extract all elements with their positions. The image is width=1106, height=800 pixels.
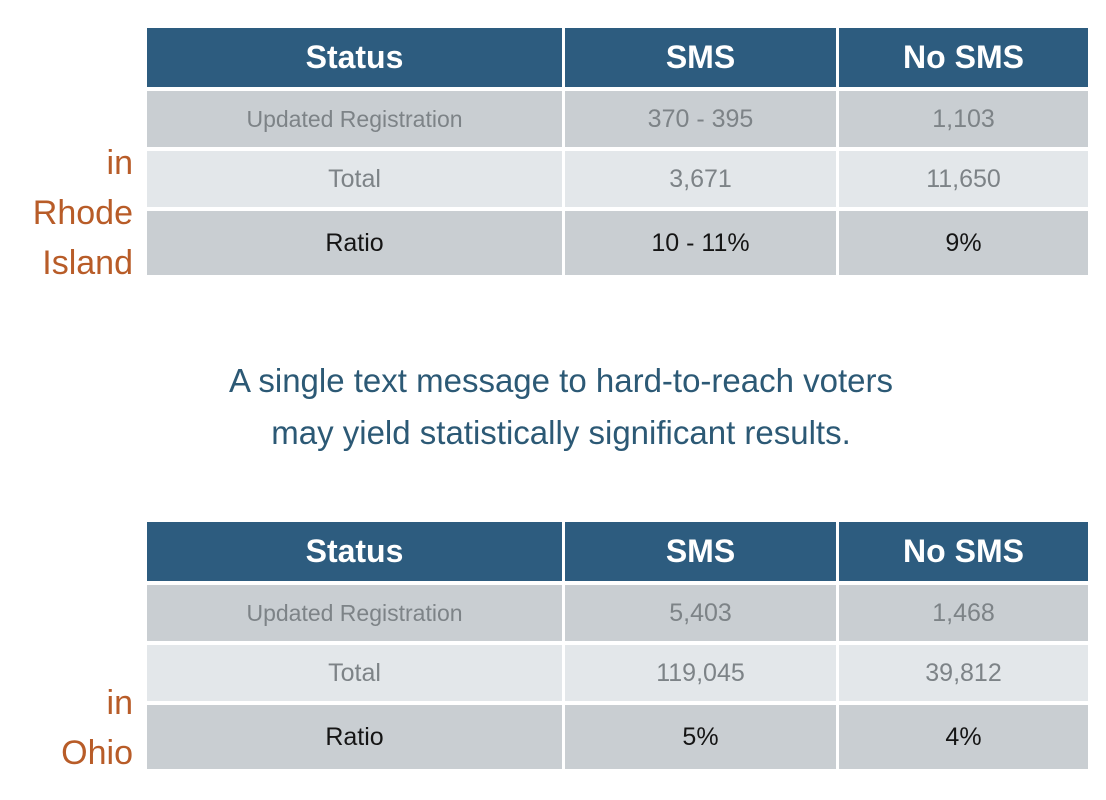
cell-no-sms: 9% bbox=[839, 211, 1088, 275]
cell-sms: 3,671 bbox=[565, 151, 836, 207]
table-body: Updated Registration 370 - 395 1,103 Tot… bbox=[147, 91, 1088, 275]
cell-no-sms: 1,103 bbox=[839, 91, 1088, 147]
header-row: Status SMS No SMS bbox=[147, 522, 1088, 581]
table-body: Updated Registration 5,403 1,468 Total 1… bbox=[147, 585, 1088, 769]
data-table: Status SMS No SMS Updated Registration 5… bbox=[144, 518, 1091, 773]
column-header-sms[interactable]: SMS bbox=[565, 28, 836, 87]
caption-line-1: A single text message to hard-to-reach v… bbox=[16, 355, 1106, 407]
cell-sms: 5% bbox=[565, 705, 836, 769]
cell-status: Total bbox=[147, 151, 562, 207]
table-rhode-island: Status SMS No SMS Updated Registration 3… bbox=[147, 28, 1094, 275]
cell-no-sms: 11,650 bbox=[839, 151, 1088, 207]
table-row: Total 119,045 39,812 bbox=[147, 645, 1088, 701]
data-table: Status SMS No SMS Updated Registration 3… bbox=[144, 24, 1091, 279]
table-header: Status SMS No SMS bbox=[147, 28, 1088, 87]
caption-text: A single text message to hard-to-reach v… bbox=[0, 355, 1106, 459]
cell-sms: 370 - 395 bbox=[565, 91, 836, 147]
table-row: Updated Registration 370 - 395 1,103 bbox=[147, 91, 1088, 147]
side-label-line-1: in bbox=[0, 678, 133, 728]
slide-canvas: in Rhode Island Status SMS No SMS Update… bbox=[0, 0, 1106, 800]
side-label-line-2: Rhode bbox=[0, 188, 133, 238]
header-row: Status SMS No SMS bbox=[147, 28, 1088, 87]
side-label-ohio: in Ohio bbox=[0, 678, 133, 778]
side-label-rhode-island: in Rhode Island bbox=[0, 138, 133, 288]
table-header: Status SMS No SMS bbox=[147, 522, 1088, 581]
cell-status: Updated Registration bbox=[147, 585, 562, 641]
column-header-no-sms[interactable]: No SMS bbox=[839, 522, 1088, 581]
cell-sms: 119,045 bbox=[565, 645, 836, 701]
side-label-line-3: Island bbox=[0, 238, 133, 288]
table-ohio: Status SMS No SMS Updated Registration 5… bbox=[147, 522, 1094, 769]
table-row: Updated Registration 5,403 1,468 bbox=[147, 585, 1088, 641]
cell-no-sms: 4% bbox=[839, 705, 1088, 769]
cell-status: Ratio bbox=[147, 211, 562, 275]
cell-no-sms: 1,468 bbox=[839, 585, 1088, 641]
table-row: Ratio 10 - 11% 9% bbox=[147, 211, 1088, 275]
cell-status: Total bbox=[147, 645, 562, 701]
table-row: Ratio 5% 4% bbox=[147, 705, 1088, 769]
column-header-status[interactable]: Status bbox=[147, 522, 562, 581]
column-header-sms[interactable]: SMS bbox=[565, 522, 836, 581]
side-label-line-2: Ohio bbox=[0, 728, 133, 778]
cell-sms: 5,403 bbox=[565, 585, 836, 641]
cell-sms: 10 - 11% bbox=[565, 211, 836, 275]
caption-line-2: may yield statistically significant resu… bbox=[16, 407, 1106, 459]
column-header-status[interactable]: Status bbox=[147, 28, 562, 87]
column-header-no-sms[interactable]: No SMS bbox=[839, 28, 1088, 87]
cell-no-sms: 39,812 bbox=[839, 645, 1088, 701]
cell-status: Updated Registration bbox=[147, 91, 562, 147]
cell-status: Ratio bbox=[147, 705, 562, 769]
table-row: Total 3,671 11,650 bbox=[147, 151, 1088, 207]
side-label-line-1: in bbox=[0, 138, 133, 188]
